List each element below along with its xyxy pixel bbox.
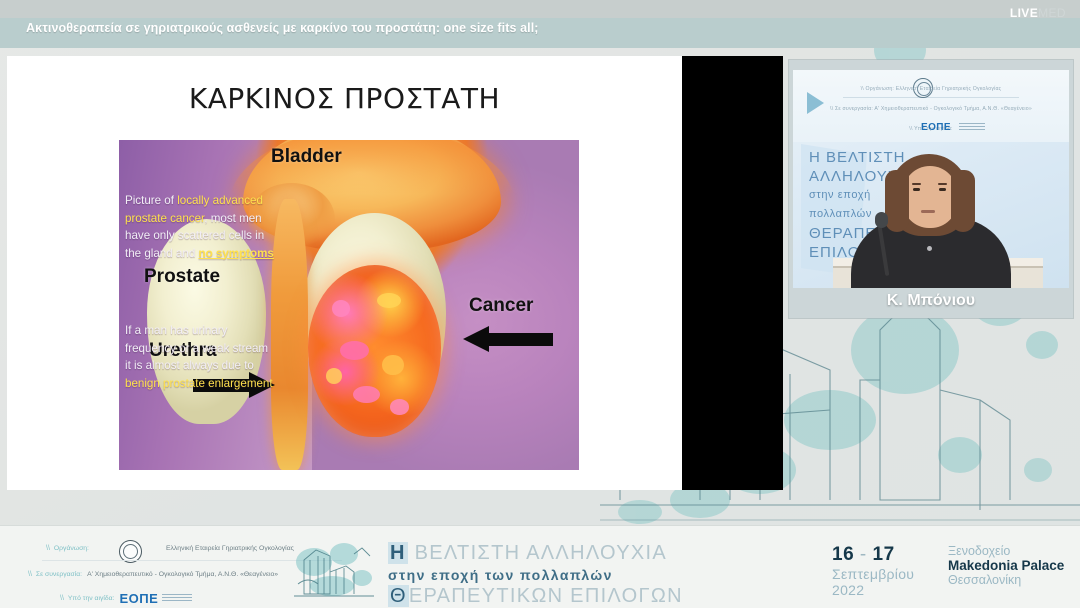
footer-event-title: Η ΒΕΛΤΙΣΤΗ ΑΛΛΗΛΟΥΧΙΑ στην εποχή των πολ… (388, 542, 808, 608)
prostate-anatomy-figure: Bladder Prostate Urethra Cancer Picture … (119, 140, 579, 470)
caption1-part1: Picture of (125, 194, 177, 207)
video-eope-subtext (959, 123, 985, 131)
video-org-line-1: \\ Οργάνωση: Ελληνική Εταιρεία Γηριατρικ… (793, 86, 1069, 92)
video-org-val-1: Ελληνική Εταιρεία Γηριατρικής Ογκολογίας (896, 86, 1002, 92)
speaker-name-label: Κ. Μπόνιου (789, 286, 1073, 316)
footer-monument-sketch (284, 532, 380, 604)
caption2-part1: If a man has urinary frequency or a weak… (125, 324, 268, 372)
footer-eope-subtext (162, 594, 192, 603)
speaker-eye-left (913, 188, 920, 191)
video-org-key-2: \\ Σε συνεργασία: (830, 106, 873, 112)
speaker-brow-right (938, 183, 947, 185)
speaker-mouth (921, 210, 935, 213)
speaker-brow-left (912, 183, 921, 185)
footer-event-line-2: στην εποχή των πολλαπλών (388, 565, 808, 585)
speaker-video-panel[interactable]: \\ Οργάνωση: Ελληνική Εταιρεία Γηριατρικ… (789, 60, 1073, 318)
talk-title: Ακτινοθεραπεία σε γηριατρικούς ασθενείς … (0, 12, 1080, 44)
video-banner-rule (843, 97, 1019, 98)
footer-event-line-1-cap: Η (388, 542, 408, 564)
footer-event-date: 16 - 17 Σεπτεμβρίου 2022 (832, 544, 932, 598)
speaker-hair-left (885, 170, 909, 232)
video-org-val-2: Α' Χημειοθεραπευτικό - Ογκολογικό Τμήμα,… (874, 106, 1032, 112)
speaker-hair-right (951, 170, 975, 232)
footer-coop-slash: \\ (28, 571, 32, 578)
footer-auspices-key: Υπό την αιγίδα: (68, 595, 115, 602)
app-root: Ακτινοθεραπεία σε γηριατρικούς ασθενείς … (0, 0, 1080, 608)
footer-date-days: 16 - 17 (832, 544, 932, 566)
speaker-video-feed[interactable]: \\ Οργάνωση: Ελληνική Εταιρεία Γηριατρικ… (793, 70, 1069, 288)
event-footer-banner: \\ Οργάνωση: Ελληνική Εταιρεία Γηριατρικ… (0, 525, 1080, 608)
footer-org-key: Οργάνωση: (54, 545, 89, 552)
footer-date-dash: - (854, 544, 872, 565)
footer-event-line-1-rest: ΒΕΛΤΙΣΤΗ ΑΛΛΗΛΟΥΧΙΑ (408, 542, 667, 564)
footer-venue-name: Makedonia Palace (948, 558, 1078, 573)
tumor-shape (308, 265, 441, 437)
footer-eope-logo: ΕΟΠΕ (119, 591, 158, 606)
cancer-arrow-icon (463, 326, 555, 352)
footer-coop-value: Α' Χημειοθεραπευτικό - Ογκολογικό Τμήμα,… (87, 571, 278, 578)
caption1-highlight2: no symptoms (199, 247, 274, 260)
footer-venue-city: Θεσσαλονίκη (948, 573, 1078, 587)
footer-venue-label: Ξενοδοχείο (948, 544, 1078, 558)
speaker-eye-right (939, 188, 946, 191)
caption2-highlight1: benign prostate enlargement (125, 377, 273, 390)
footer-date-day-to: 17 (873, 544, 895, 565)
slide-stage[interactable]: ΚΑΡΚΙΝΟΣ ΠΡΟΣΤΑΤΗ (7, 56, 783, 490)
footer-event-line-3-cap: Θ (388, 585, 409, 607)
footer-coop-key: Σε συνεργασία: (36, 571, 82, 578)
figure-caption-2: If a man has urinary frequency or a weak… (125, 322, 277, 392)
label-prostate: Prostate (144, 266, 220, 288)
footer-date-year: 2022 (832, 582, 932, 598)
footer-org-value: Ελληνική Εταιρεία Γηριατρικής Ογκολογίας (166, 545, 294, 552)
video-org-line-2: \\ Σε συνεργασία: Α' Χημειοθεραπευτικό -… (793, 106, 1069, 112)
slide-title: ΚΑΡΚΙΝΟΣ ΠΡΟΣΤΑΤΗ (7, 82, 682, 115)
footer-event-line-3: ΘΕΡΑΠΕΥΤΙΚΩΝ ΕΠΙΛΟΓΩΝ (388, 585, 808, 608)
footer-event-line-1: Η ΒΕΛΤΙΣΤΗ ΑΛΛΗΛΟΥΧΙΑ (388, 542, 808, 565)
label-cancer: Cancer (469, 295, 533, 317)
footer-auspices-slash: \\ (60, 595, 64, 602)
play-triangle-icon (807, 92, 824, 114)
brand-med-text: MED (1038, 6, 1066, 20)
footer-date-day-from: 16 (832, 544, 854, 565)
speaker-lapel-button (927, 246, 932, 251)
figure-caption-1: Picture of locally advanced prostate can… (125, 192, 277, 262)
video-eope-logo: ΕΟΠΕ (921, 122, 951, 133)
label-bladder: Bladder (271, 146, 342, 168)
presentation-slide: ΚΑΡΚΙΝΟΣ ΠΡΟΣΤΑΤΗ (7, 56, 682, 490)
livemed-logo: LIVEMED (1010, 6, 1066, 20)
footer-event-line-3-rest: ΕΡΑΠΕΥΤΙΚΩΝ ΕΠΙΛΟΓΩΝ (409, 585, 683, 607)
footer-org-slash: \\ (46, 545, 50, 552)
speaker-face (903, 166, 957, 228)
video-org-key-1: \\ Οργάνωση: (861, 86, 894, 92)
microphone-head-icon (875, 212, 888, 228)
footer-venue: Ξενοδοχείο Makedonia Palace Θεσσαλονίκη (948, 544, 1078, 587)
brand-live-text: LIVE (1010, 6, 1038, 20)
footer-date-month: Σεπτεμβρίου (832, 566, 932, 582)
